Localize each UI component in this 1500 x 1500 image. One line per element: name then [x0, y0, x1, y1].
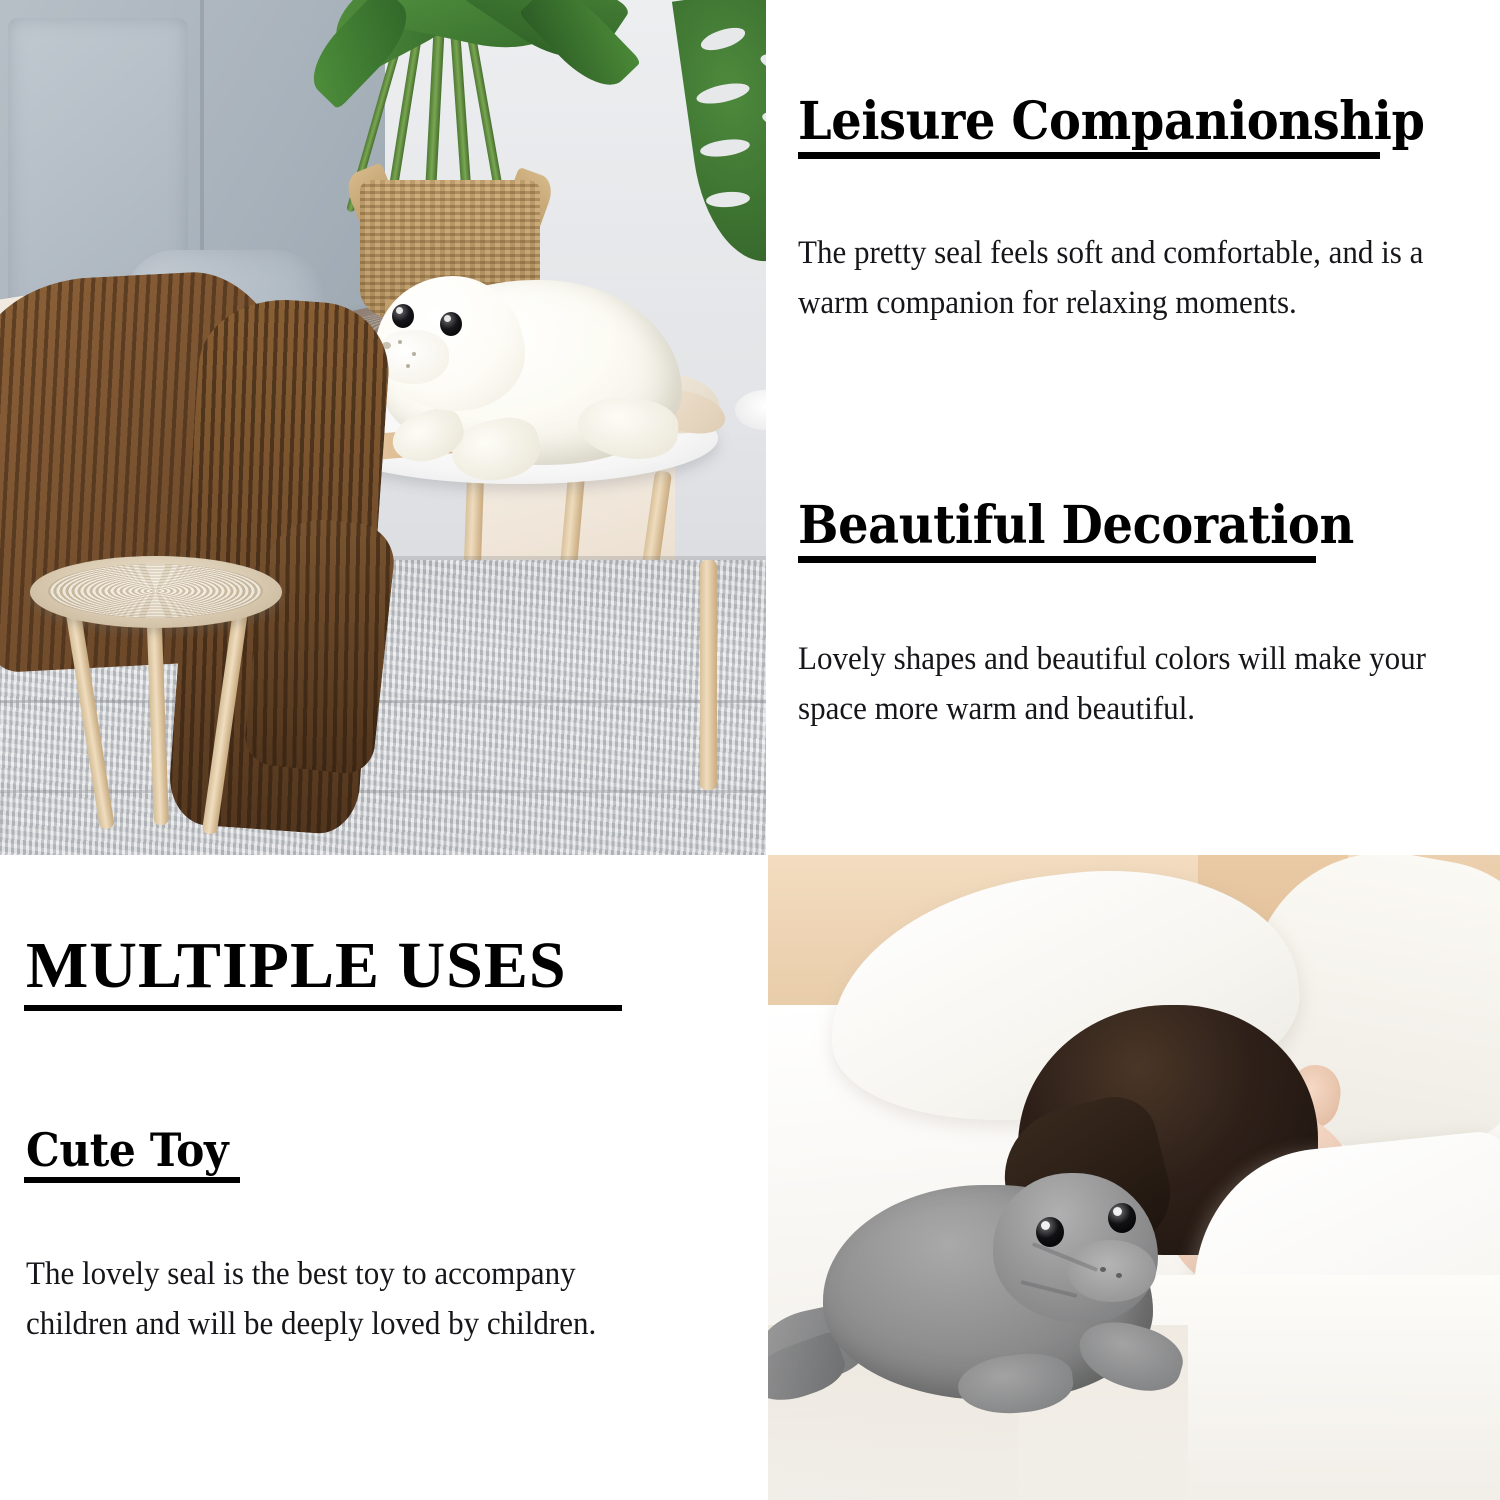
grey-seal-eye-right	[1108, 1203, 1136, 1233]
heading-cute-toy: Cute Toy	[26, 1127, 228, 1173]
grey-seal-nostril	[1100, 1267, 1106, 1272]
grey-seal-snout	[1068, 1240, 1156, 1302]
heading-cute-toy-underline	[24, 1177, 240, 1183]
infographic-page: Leisure Companionship The pretty seal fe…	[0, 0, 1500, 1500]
seal-eye-right	[440, 312, 462, 336]
seal-whisker-dot	[412, 352, 416, 356]
heading-leisure-companionship: Leisure Companionship	[798, 96, 1425, 148]
far-table-leg	[700, 560, 717, 790]
grey-seal-nostril	[1116, 1273, 1122, 1278]
stool-weave-pattern	[48, 564, 263, 618]
bedroom-photo	[768, 855, 1500, 1500]
seal-whisker-dot	[398, 340, 402, 344]
living-room-photo	[0, 0, 766, 855]
heading-multiple-uses-underline	[24, 1005, 622, 1011]
body-cute-toy: The lovely seal is the best toy to accom…	[26, 1249, 675, 1349]
heading-multiple-uses: MULTIPLE USES	[26, 933, 567, 999]
seal-whisker-dot	[406, 364, 410, 368]
heading-decoration-underline	[798, 556, 1316, 563]
right-text-panel: Leisure Companionship The pretty seal fe…	[766, 0, 1500, 855]
left-text-panel: MULTIPLE USES Cute Toy The lovely seal i…	[0, 855, 768, 1500]
rug-seam	[0, 790, 766, 793]
body-beautiful-decoration: Lovely shapes and beautiful colors will …	[798, 634, 1456, 734]
heading-beautiful-decoration: Beautiful Decoration	[798, 500, 1354, 552]
heading-leisure-underline	[798, 152, 1380, 159]
seal-eye-left	[392, 304, 414, 328]
rug-seam	[0, 700, 766, 703]
body-leisure-companionship: The pretty seal feels soft and comfortab…	[798, 228, 1465, 328]
grey-seal-eye-left	[1036, 1217, 1064, 1247]
